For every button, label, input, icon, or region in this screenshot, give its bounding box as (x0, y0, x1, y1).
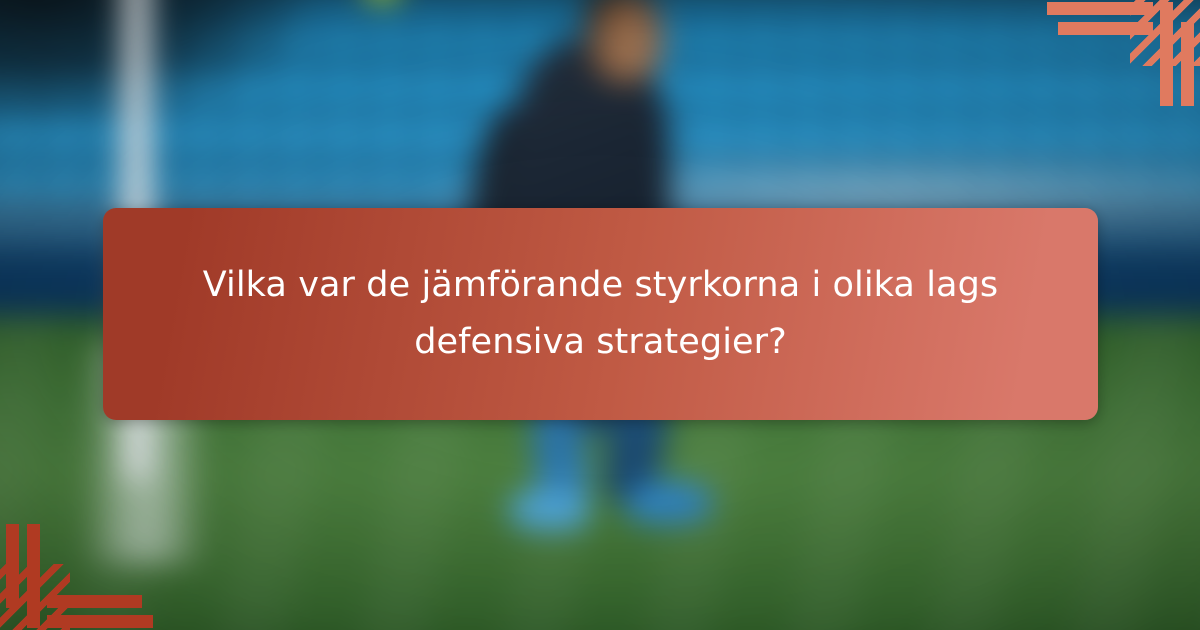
corner-ornament-top-right (1040, 0, 1200, 106)
player-boot-left (509, 490, 590, 530)
question-text: Vilka var de jämförande styrkorna i olik… (103, 257, 1098, 370)
ornament-bar-vertical-1 (1160, 2, 1173, 106)
ornament-bar-horizontal-2 (1058, 22, 1153, 35)
ornament-bar-vertical-1 (27, 524, 40, 628)
player-boot-right (625, 481, 712, 523)
social-card-stage: Vilka var de jämförande styrkorna i olik… (0, 0, 1200, 630)
ornament-bar-vertical-2 (1181, 22, 1194, 106)
player-head (587, 0, 663, 83)
question-card: Vilka var de jämförande styrkorna i olik… (103, 208, 1098, 420)
ornament-bar-vertical-2 (6, 524, 19, 608)
corner-ornament-bottom-left (0, 524, 160, 630)
ornament-bar-horizontal-1 (1047, 2, 1153, 15)
ornament-bar-horizontal-2 (47, 595, 142, 608)
ornament-bar-horizontal-1 (47, 615, 153, 628)
